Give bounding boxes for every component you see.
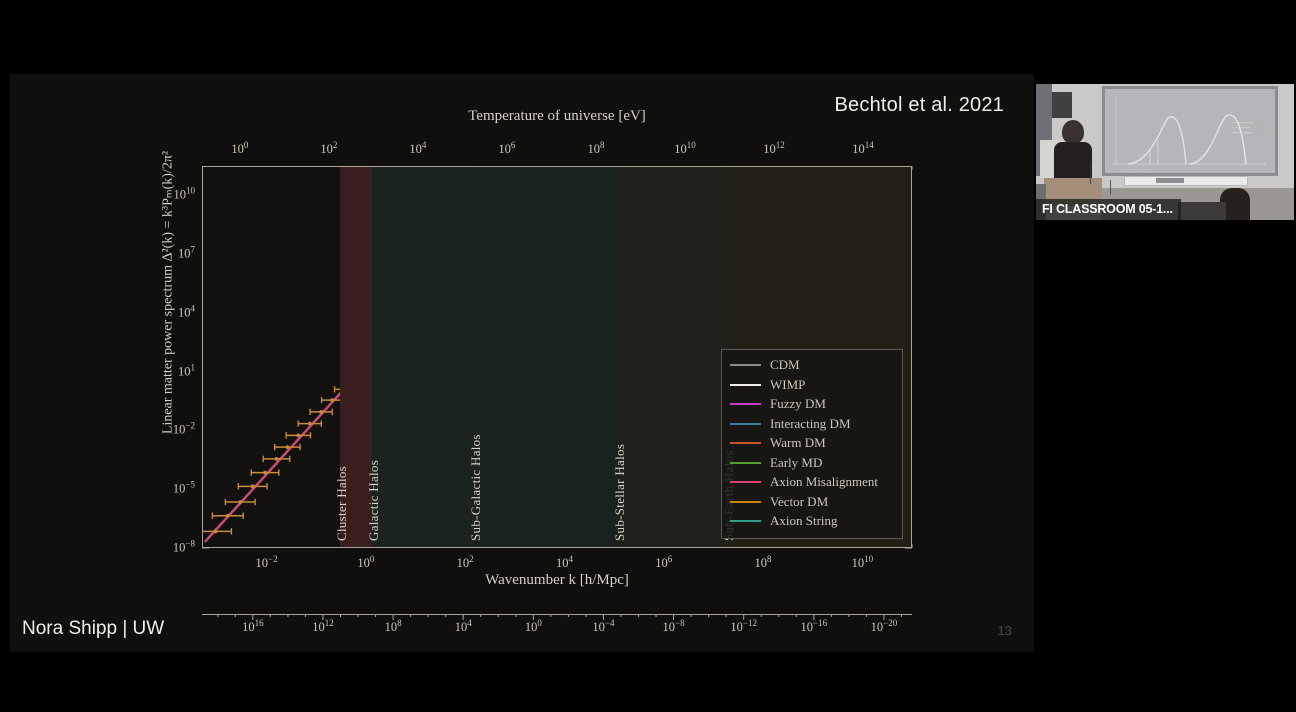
- chart-legend: CDMWIMPFuzzy DMInteracting DMWarm DMEarl…: [721, 349, 903, 540]
- region-label-sub-galactic-halos: Sub-Galactic Halos: [468, 434, 484, 541]
- classroom-av-console: [1124, 176, 1248, 186]
- legend-item-axion-string[interactable]: Axion String: [730, 512, 894, 532]
- legend-swatch-3: [730, 423, 761, 425]
- presenter-head: [1062, 120, 1084, 144]
- legend-item-fuzzy-dm[interactable]: Fuzzy DM: [730, 395, 894, 415]
- cable: [1110, 180, 1111, 194]
- microphone-stand: [1090, 162, 1091, 184]
- legend-swatch-0: [730, 364, 761, 366]
- region-label-sub-stellar-halos: Sub-Stellar Halos: [612, 444, 628, 541]
- classroom-sign: [1052, 92, 1072, 118]
- screen-share-view: Bechtol et al. 2021 Nora Shipp | UW 13 T…: [0, 0, 1296, 712]
- legend-swatch-7: [730, 501, 761, 503]
- region-band-sub-galactic-halos: [474, 167, 618, 547]
- region-band-sub-stellar-halos: [618, 167, 727, 547]
- legend-item-cdm[interactable]: CDM: [730, 356, 894, 376]
- legend-item-warm-dm[interactable]: Warm DM: [730, 434, 894, 454]
- plot-area: Cluster HalosGalactic HalosSub-Galactic …: [202, 166, 912, 548]
- legend-swatch-6: [730, 481, 761, 483]
- legend-item-vector-dm[interactable]: Vector DM: [730, 492, 894, 512]
- projected-plot-sketch: Nora Shipp | UW: [1106, 90, 1274, 174]
- legend-label-8: Axion String: [770, 513, 838, 529]
- legend-label-2: Fuzzy DM: [770, 396, 826, 412]
- presentation-slide: Bechtol et al. 2021 Nora Shipp | UW 13 T…: [10, 74, 1034, 652]
- region-band-galactic-halos: [372, 167, 474, 547]
- svg-text:Nora Shipp | UW: Nora Shipp | UW: [1118, 168, 1152, 173]
- legend-swatch-2: [730, 403, 761, 405]
- legend-item-wimp[interactable]: WIMP: [730, 375, 894, 395]
- video-tile-classroom[interactable]: Nora Shipp | UW FI CLASSROOM 05-1...: [1036, 84, 1294, 220]
- legend-label-5: Early MD: [770, 455, 822, 471]
- region-label-cluster-halos: Cluster Halos: [334, 466, 350, 541]
- legend-item-axion-misalignment[interactable]: Axion Misalignment: [730, 473, 894, 493]
- legend-label-4: Warm DM: [770, 435, 826, 451]
- legend-label-0: CDM: [770, 357, 800, 373]
- legend-item-early-md[interactable]: Early MD: [730, 453, 894, 473]
- legend-item-interacting-dm[interactable]: Interacting DM: [730, 414, 894, 434]
- legend-swatch-8: [730, 520, 761, 522]
- secondary-axis-line: [202, 614, 912, 615]
- legend-label-7: Vector DM: [770, 494, 828, 510]
- legend-label-3: Interacting DM: [770, 416, 851, 432]
- video-tile-label: FI CLASSROOM 05-1...: [1036, 199, 1181, 220]
- legend-label-6: Axion Misalignment: [770, 474, 878, 490]
- classroom-av-device: [1156, 178, 1184, 183]
- legend-swatch-1: [730, 384, 761, 386]
- region-label-galactic-halos: Galactic Halos: [366, 460, 382, 541]
- legend-swatch-5: [730, 462, 761, 464]
- legend-label-1: WIMP: [770, 377, 805, 393]
- power-spectrum-figure: Temperature of universe [eV] Wavenumber …: [130, 94, 930, 634]
- legend-swatch-4: [730, 442, 761, 444]
- classroom-laptop: [1178, 202, 1226, 220]
- slide-page-number: 13: [998, 623, 1012, 638]
